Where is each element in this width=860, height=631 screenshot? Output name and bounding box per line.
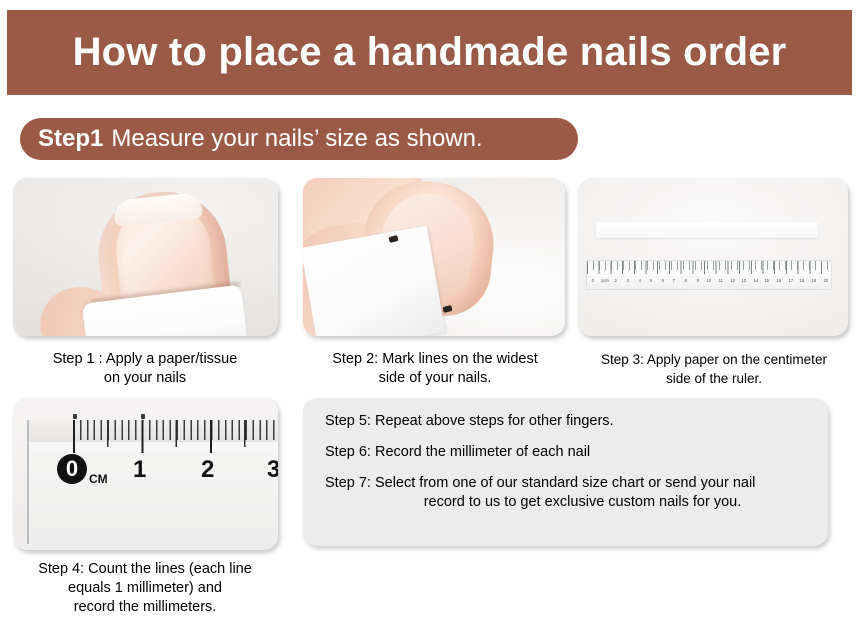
ruler-number-row: 01cm234567891011121314151617181920: [587, 274, 831, 286]
ruler-tick-label: 10: [703, 277, 715, 282]
step3-caption-line1: Step 3: Apply paper on the centimeter: [573, 350, 855, 369]
ruler-tick-label: 5: [645, 277, 657, 282]
ruler-tick-label: 16: [773, 277, 785, 282]
ruler-number-2: 2: [201, 456, 214, 484]
ruler-tick-label: 17: [784, 277, 796, 282]
reference-dot-right: [141, 414, 145, 419]
ruler-tick-label: 0: [587, 277, 599, 282]
step1-caption-line2: on your nails: [6, 369, 284, 388]
steps-5-7-panel: Step 5: Repeat above steps for other fin…: [303, 398, 828, 546]
step1-image-card: [13, 178, 278, 336]
ruler-tick-label: 8: [680, 277, 692, 282]
ruler-cm-ticks: [587, 261, 831, 274]
fingertip-with-paper-photo: [13, 178, 278, 336]
step4-image-card: 0 CM 1 2 3: [13, 398, 278, 550]
ruler-tick-label: 15: [761, 277, 773, 282]
ruler-tick-label: 11: [715, 277, 727, 282]
step7-line2: record to us to get exclusive custom nai…: [325, 493, 812, 512]
ruler-shape: 01cm234567891011121314151617181920: [586, 260, 832, 290]
ruler-tick-label: 20: [819, 277, 831, 282]
ruler-tick-label: 3: [622, 277, 634, 282]
ruler-tick-label: 13: [738, 277, 750, 282]
step3-image-card: 01cm234567891011121314151617181920: [578, 178, 848, 336]
step1-caption: Step 1 : Apply a paper/tissue on your na…: [6, 350, 284, 388]
ruler-tick-label: 1cm: [598, 277, 610, 282]
ruler-tick-label: 7: [668, 277, 680, 282]
ruler-unit-label: CM: [89, 472, 108, 486]
step3-caption: Step 3: Apply paper on the centimeter si…: [573, 350, 855, 388]
ruler-tick-label: 2: [610, 277, 622, 282]
ruler-tick-label: 9: [691, 277, 703, 282]
step2-caption: Step 2: Mark lines on the widest side of…: [296, 350, 574, 388]
page-title: How to place a handmade nails order: [73, 30, 787, 75]
step5-text: Step 5: Repeat above steps for other fin…: [325, 412, 812, 431]
step1-banner: Step1 Measure your nails’ size as shown.: [20, 118, 578, 160]
ruler-tick-label: 18: [796, 277, 808, 282]
ruler-zero-marker: 0: [57, 454, 87, 484]
ruler-number-3: 3: [267, 456, 278, 484]
step7-text: Step 7: Select from one of our standard …: [325, 474, 812, 512]
photo-background: [578, 178, 848, 336]
step4-caption: Step 4: Count the lines (each line equal…: [4, 560, 286, 617]
step3-caption-line2: side of the ruler.: [573, 369, 855, 388]
instruction-poster: How to place a handmade nails order Step…: [0, 0, 860, 631]
step2-caption-line1: Step 2: Mark lines on the widest: [296, 350, 574, 369]
reference-dot-left: [73, 414, 77, 419]
ruler-closeup-photo: 0 CM 1 2 3: [13, 398, 278, 550]
step1-caption-line1: Step 1 : Apply a paper/tissue: [6, 350, 284, 369]
fingers-marking-paper-photo: [303, 178, 565, 336]
paper-strip-shape: [596, 222, 818, 238]
ruler-tick-label: 19: [808, 277, 820, 282]
step1-instruction: Measure your nails’ size as shown.: [111, 125, 482, 153]
ruler-number-1: 1: [133, 456, 146, 484]
page-header: How to place a handmade nails order: [7, 10, 852, 95]
step4-caption-line2: equals 1 millimeter) and: [4, 579, 286, 598]
step2-caption-line2: side of your nails.: [296, 369, 574, 388]
ruler-with-paper-strip-photo: 01cm234567891011121314151617181920: [578, 178, 848, 336]
step4-caption-line3: record the millimeters.: [4, 598, 286, 617]
ruler-tick-label: 12: [726, 277, 738, 282]
step1-label: Step1: [38, 125, 103, 153]
step6-text: Step 6: Record the millimeter of each na…: [325, 443, 812, 462]
ruler-tick-label: 4: [633, 277, 645, 282]
step7-line1: Step 7: Select from one of our standard …: [325, 474, 812, 493]
step2-image-card: [303, 178, 565, 336]
step4-caption-line1: Step 4: Count the lines (each line: [4, 560, 286, 579]
ruler-cm-ticks: [73, 420, 278, 453]
